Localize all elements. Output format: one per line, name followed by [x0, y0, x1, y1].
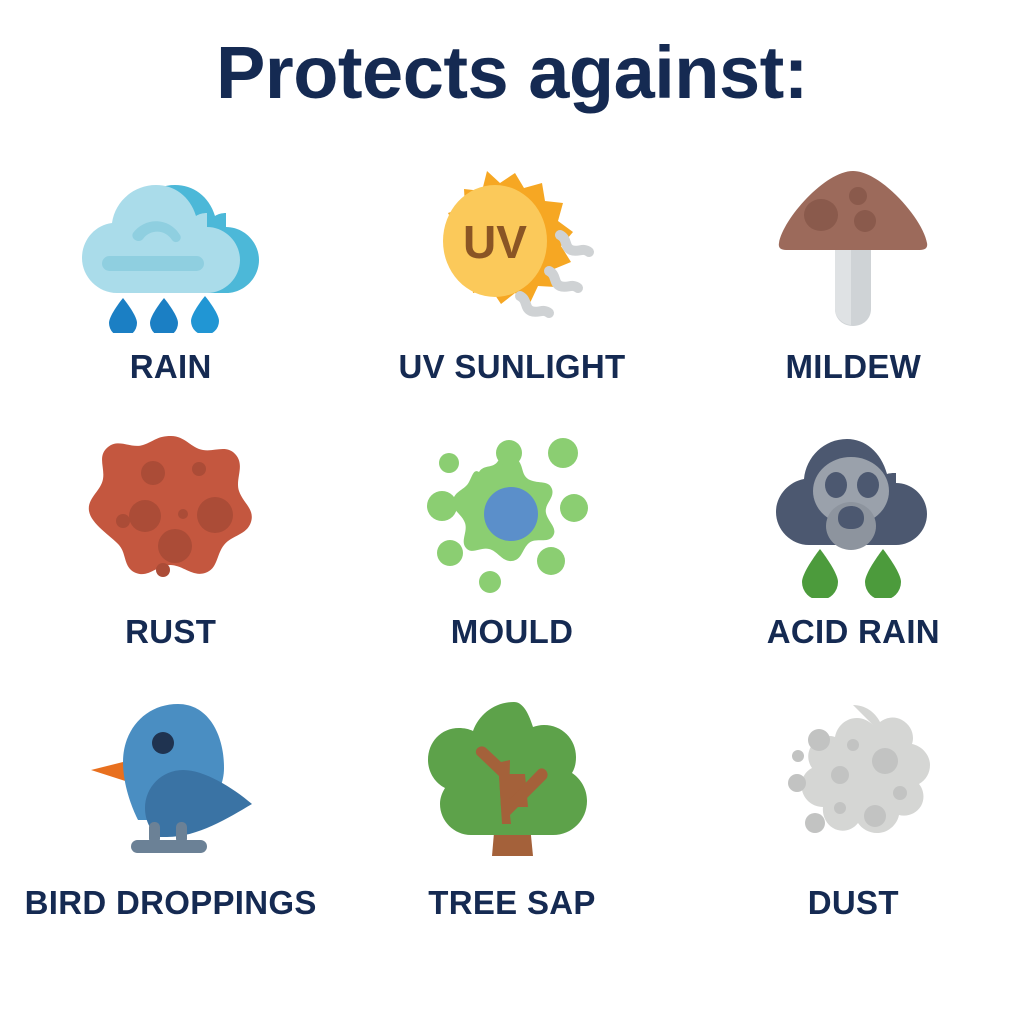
item-label-dust: DUST	[808, 884, 899, 922]
bird-icon	[71, 690, 271, 870]
item-label-acid-rain: ACID RAIN	[767, 613, 940, 651]
protection-grid: RAIN UV UV SUNLIGHT	[0, 160, 1024, 955]
uv-sun-icon: UV	[412, 160, 612, 340]
dust-cloud-icon	[753, 690, 953, 870]
acid-cloud-icon	[753, 425, 953, 605]
tree-icon	[412, 690, 612, 870]
grid-item-mildew: MILDEW	[683, 160, 1024, 425]
item-label-mould: MOULD	[451, 613, 573, 651]
mould-spore-icon	[412, 425, 612, 605]
grid-item-rust: RUST	[0, 425, 341, 690]
item-label-rust: RUST	[125, 613, 216, 651]
protects-against-infographic: Protects against: RAIN	[0, 0, 1024, 1024]
item-label-uv-sunlight: UV SUNLIGHT	[399, 348, 626, 386]
rust-blob-icon	[71, 425, 271, 605]
grid-item-rain: RAIN	[0, 160, 341, 425]
item-label-tree-sap: TREE SAP	[428, 884, 595, 922]
page-title: Protects against:	[0, 36, 1024, 110]
grid-item-tree-sap: TREE SAP	[341, 690, 682, 955]
grid-item-acid-rain: ACID RAIN	[683, 425, 1024, 690]
uv-badge-text: UV	[463, 216, 527, 268]
item-label-mildew: MILDEW	[786, 348, 922, 386]
grid-item-bird-droppings: BIRD DROPPINGS	[0, 690, 341, 955]
grid-item-uv-sunlight: UV UV SUNLIGHT	[341, 160, 682, 425]
grid-item-mould: MOULD	[341, 425, 682, 690]
mushroom-icon	[753, 160, 953, 340]
item-label-rain: RAIN	[130, 348, 212, 386]
rain-cloud-icon	[71, 160, 271, 340]
grid-item-dust: DUST	[683, 690, 1024, 955]
item-label-bird-droppings: BIRD DROPPINGS	[25, 884, 317, 922]
